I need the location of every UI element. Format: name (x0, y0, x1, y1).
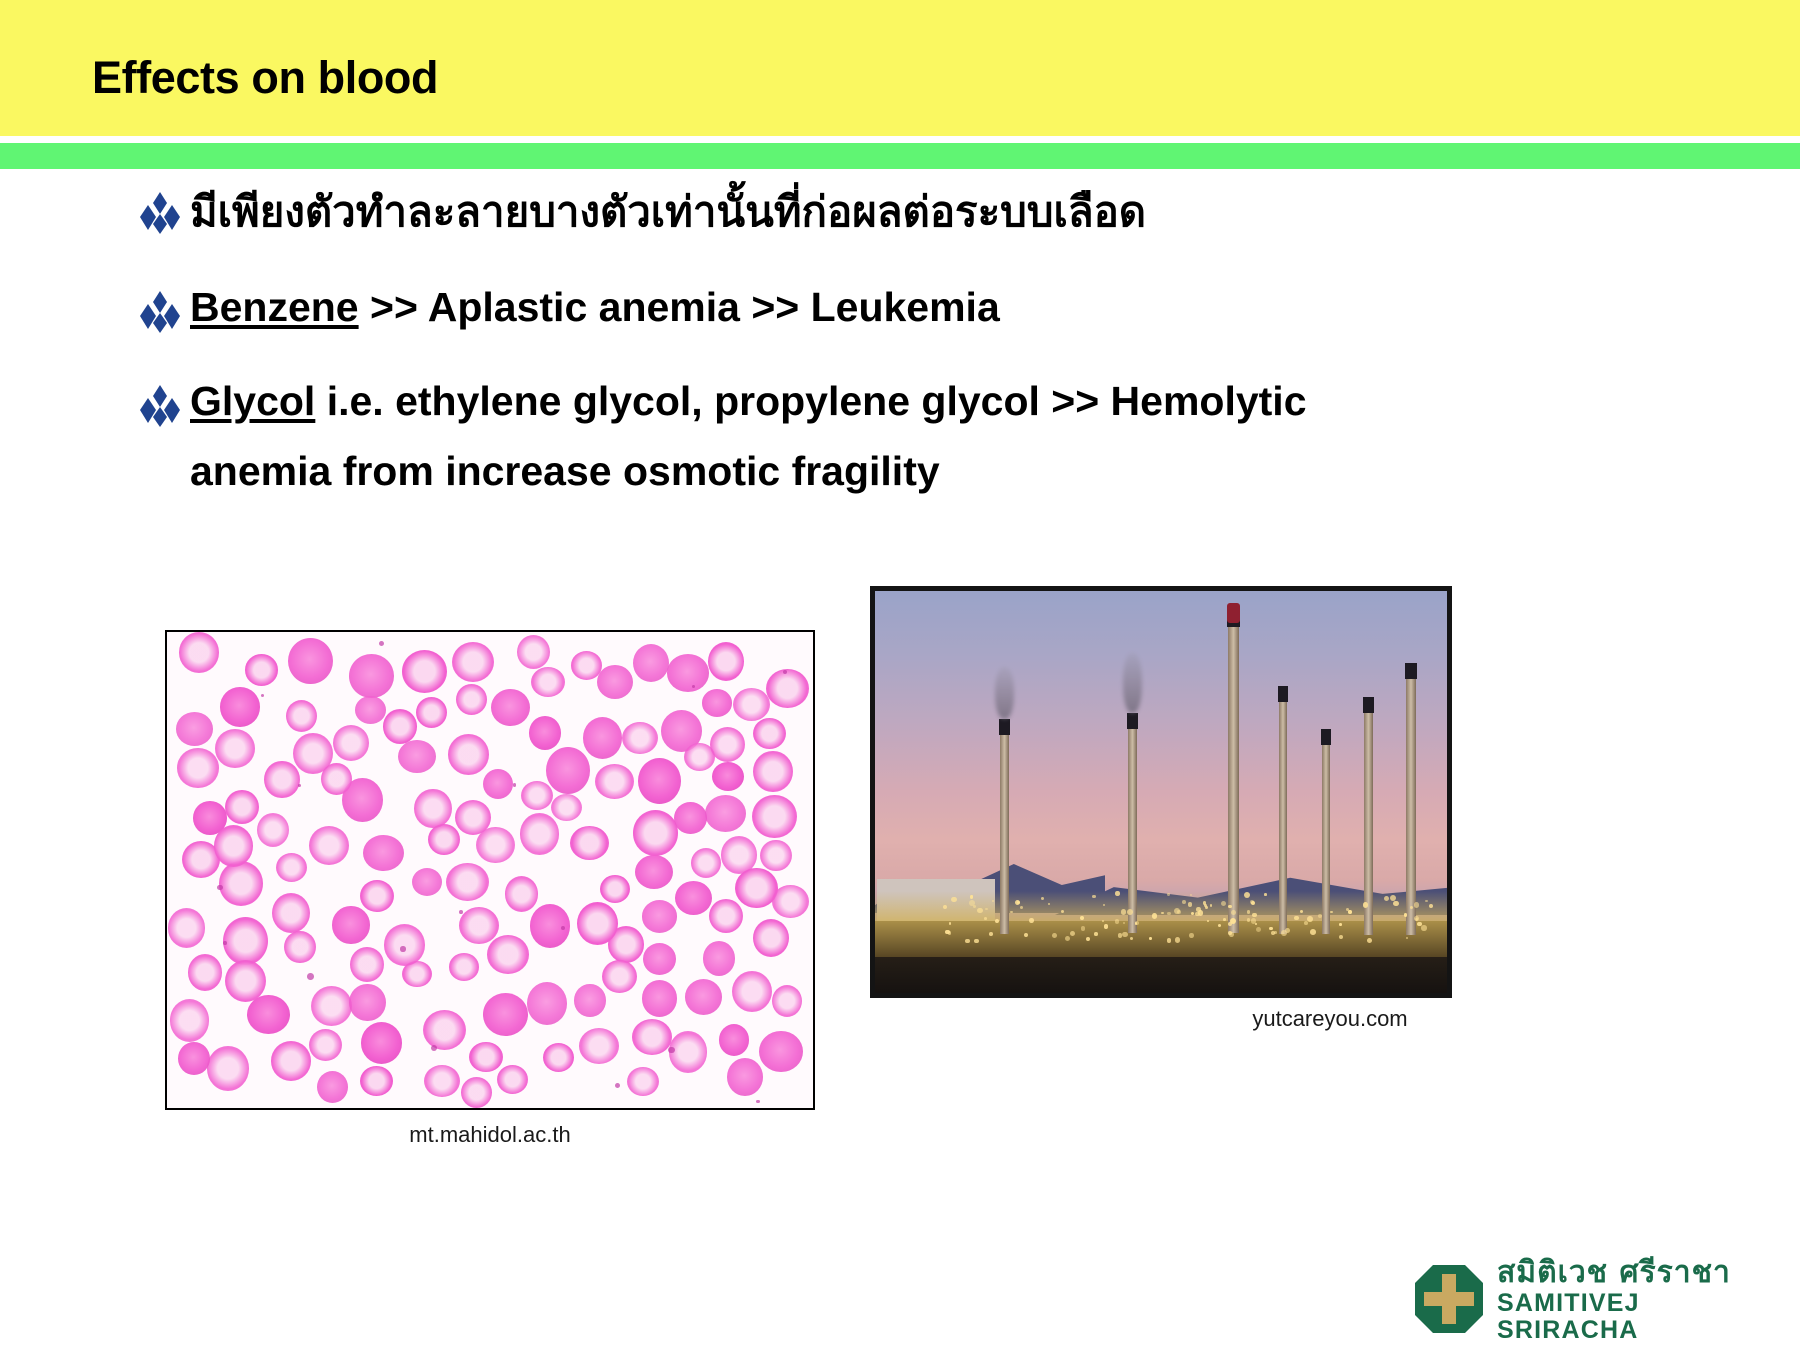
red-blood-cell (176, 712, 213, 746)
smoke-plume (1123, 653, 1142, 713)
title-divider-green (0, 143, 1800, 169)
plant-light (1414, 902, 1419, 907)
plant-light (1115, 919, 1119, 923)
plant-light (1417, 922, 1422, 927)
plant-light (1210, 904, 1213, 907)
red-blood-cell (760, 840, 792, 871)
red-blood-cell (363, 835, 404, 871)
platelet-speck (223, 941, 227, 945)
plant-light (1177, 910, 1181, 914)
blood-smear-figure: mt.mahidol.ac.th (165, 630, 815, 1110)
glycol-rest: i.e. ethylene glycol, propylene glycol >… (315, 378, 1306, 424)
red-blood-cell (583, 717, 623, 759)
plant-light (1281, 930, 1287, 936)
red-blood-cell (732, 971, 772, 1012)
platelet-speck (561, 926, 565, 930)
red-blood-cell (223, 917, 268, 965)
platelet-speck (783, 670, 787, 674)
plant-light (1310, 929, 1316, 935)
red-blood-cell (276, 853, 307, 882)
red-blood-cell (355, 696, 387, 724)
red-blood-cell (597, 665, 633, 699)
plant-light (1330, 911, 1332, 913)
red-blood-cell (521, 781, 553, 810)
red-blood-cell (188, 954, 222, 991)
plant-light (989, 932, 993, 936)
red-blood-cell (753, 718, 787, 750)
plant-light (1115, 891, 1119, 895)
smokestack (1128, 713, 1137, 933)
blood-smear-caption: mt.mahidol.ac.th (165, 1122, 815, 1148)
red-blood-cell (220, 687, 259, 726)
plant-light (969, 900, 975, 906)
plant-light (1127, 909, 1133, 915)
plant-light (1247, 910, 1250, 913)
red-blood-cell (674, 802, 707, 834)
smokestack-cap (1127, 713, 1138, 729)
plant-light (949, 922, 951, 924)
refinery-caption: yutcareyou.com (1200, 1006, 1460, 1032)
red-blood-cell (487, 935, 530, 974)
red-blood-cell (284, 931, 316, 964)
smoke-plume (995, 667, 1014, 719)
platelet-speck (400, 946, 405, 951)
red-blood-cell (214, 825, 253, 867)
plant-light (1122, 932, 1128, 938)
red-blood-cell (675, 881, 712, 915)
red-blood-cell (416, 697, 447, 728)
red-blood-cell (349, 984, 385, 1021)
red-blood-cell (759, 1031, 803, 1073)
red-blood-cell (332, 906, 369, 943)
red-blood-cell (766, 669, 809, 709)
plant-light (1130, 937, 1133, 940)
plant-light (1294, 916, 1298, 920)
red-blood-cell (168, 908, 205, 947)
plant-light (1425, 900, 1427, 902)
platelet-speck (298, 784, 301, 787)
red-blood-cell (642, 980, 677, 1016)
red-blood-cell (635, 855, 673, 889)
plant-light (951, 897, 957, 903)
plant-light (1086, 937, 1090, 941)
smokestack (1364, 697, 1373, 935)
plant-light (1367, 938, 1372, 943)
plant-light (1161, 912, 1163, 914)
list-item: มีเพียงตัวทำละลายบางตัวเท่านั้นที่ก่อผลต… (140, 188, 1740, 235)
list-item-label: มีเพียงตัวทำละลายบางตัวเท่านั้นที่ก่อผลต… (190, 188, 1740, 235)
plant-light (1307, 916, 1313, 922)
red-blood-cell (595, 764, 634, 799)
glycol-keyword: Glycol (190, 378, 315, 424)
plant-light (1228, 905, 1231, 908)
red-blood-cell (423, 1010, 466, 1050)
red-blood-cell (752, 795, 797, 838)
benzene-rest: >> Aplastic anemia >> Leukemia (359, 284, 1000, 330)
list-item-continuation: anemia from increase osmotic fragility (190, 451, 1740, 492)
plant-light (1348, 910, 1352, 914)
red-blood-cell (703, 941, 736, 976)
red-blood-cell (638, 758, 681, 804)
red-blood-cell (177, 748, 218, 787)
red-blood-cell (247, 995, 290, 1034)
red-blood-cell (602, 960, 637, 993)
smokestack-cap (1363, 697, 1374, 713)
plant-light (965, 939, 969, 943)
red-blood-cell (531, 667, 565, 697)
platelet-speck (615, 1083, 620, 1088)
plant-light (1191, 912, 1194, 915)
red-blood-cell (633, 810, 678, 855)
plant-light (1020, 906, 1023, 909)
plant-light (1269, 927, 1273, 931)
red-blood-cell (551, 794, 582, 821)
red-blood-cell (402, 650, 447, 693)
red-blood-cell (520, 813, 560, 855)
plant-light (985, 908, 987, 910)
smokestack (1406, 663, 1416, 935)
red-blood-cell (424, 1065, 460, 1097)
refinery-image (870, 586, 1452, 998)
red-blood-cell (543, 1043, 575, 1072)
red-blood-cell (476, 827, 515, 863)
red-blood-cell (207, 1046, 250, 1091)
red-blood-cell (643, 943, 677, 975)
plant-light (1167, 893, 1169, 895)
platelet-speck (668, 1047, 675, 1054)
plant-light (1218, 924, 1221, 927)
red-blood-cell (170, 999, 210, 1042)
list-item: Glycol i.e. ethylene glycol, propylene g… (140, 381, 1740, 423)
logo-thai-name: สมิติเวช ศรีราชา (1497, 1257, 1787, 1289)
red-blood-cell (456, 684, 488, 715)
list-item: Benzene >> Aplastic anemia >> Leukemia (140, 287, 1740, 329)
plant-light (1264, 893, 1267, 896)
title-divider-white (0, 136, 1800, 143)
red-blood-cell (497, 1065, 528, 1094)
smokestack (1000, 719, 1009, 934)
red-blood-cell (178, 1042, 210, 1075)
plant-light (1102, 920, 1104, 922)
plant-light (1339, 923, 1342, 926)
plant-light (1175, 937, 1181, 943)
red-blood-cell (772, 985, 803, 1018)
list-item-label: Glycol i.e. ethylene glycol, propylene g… (190, 381, 1740, 422)
plant-light (1221, 901, 1226, 906)
red-blood-cell (321, 763, 352, 795)
platelet-speck (217, 885, 222, 890)
plant-light (1149, 937, 1152, 940)
plant-light (1421, 925, 1426, 930)
bullet-list: มีเพียงตัวทำละลายบางตัวเท่านั้นที่ก่อผลต… (140, 188, 1740, 492)
plant-light (1104, 924, 1109, 929)
red-blood-cell (702, 689, 733, 717)
red-blood-cell (360, 1066, 393, 1096)
red-blood-cell (622, 722, 658, 754)
red-blood-cell (712, 762, 744, 791)
plant-light (1182, 900, 1186, 904)
red-blood-cell (627, 1067, 659, 1096)
list-item-label: Benzene >> Aplastic anemia >> Leukemia (190, 287, 1740, 328)
smokestack (1279, 686, 1287, 934)
red-blood-cell (691, 848, 721, 878)
red-blood-cell (452, 642, 494, 682)
red-blood-cell (288, 638, 333, 684)
plant-light (974, 939, 978, 943)
red-blood-cell (753, 919, 789, 957)
red-blood-cell (461, 1077, 492, 1108)
red-blood-cell (311, 986, 353, 1027)
diamond-cluster-icon (140, 291, 190, 333)
samitivej-sriracha-logo: สมิติเวช ศรีราชา SAMITIVEJ SRIRACHA (1415, 1262, 1787, 1340)
plant-light (1152, 913, 1157, 918)
page-title: Effects on blood (92, 52, 438, 104)
red-blood-cell (632, 1019, 672, 1055)
red-blood-cell (491, 689, 530, 726)
red-blood-cell (215, 729, 254, 768)
platelet-speck (307, 973, 314, 980)
plant-light (1135, 921, 1139, 925)
red-blood-cell (179, 632, 219, 672)
red-blood-cell (317, 1071, 348, 1103)
red-blood-cell (412, 868, 442, 896)
red-blood-cell (286, 700, 317, 732)
blood-smear-image (165, 630, 815, 1110)
red-blood-cell (428, 824, 460, 855)
plant-light (1041, 897, 1044, 900)
red-blood-cell (245, 654, 278, 685)
logo-latin-name: SAMITIVEJ SRIRACHA (1497, 1290, 1787, 1345)
red-blood-cell (483, 769, 513, 799)
red-blood-cell (517, 635, 550, 669)
red-blood-cell (414, 789, 451, 829)
red-blood-cell (733, 688, 770, 721)
plant-light (1363, 902, 1368, 907)
benzene-keyword: Benzene (190, 284, 359, 330)
red-blood-cell (483, 993, 529, 1036)
smokestack (1322, 729, 1330, 934)
platelet-speck (261, 694, 264, 697)
red-blood-cell (721, 836, 757, 873)
red-blood-cell (446, 863, 489, 901)
red-blood-cell (360, 880, 394, 913)
red-blood-cell (361, 1022, 402, 1064)
platelet-speck (513, 783, 516, 786)
plant-light (1017, 901, 1020, 904)
red-blood-cell (579, 1028, 619, 1064)
plant-light (1339, 935, 1343, 939)
flare-tip (1227, 603, 1240, 623)
red-blood-cell (349, 654, 394, 698)
red-blood-cell (705, 795, 746, 832)
red-blood-cell (225, 960, 266, 1002)
red-blood-cell (570, 826, 609, 861)
red-blood-cell (309, 826, 349, 865)
red-blood-cell (685, 979, 723, 1015)
smokestack-cap (1405, 663, 1417, 679)
plant-light (1228, 931, 1232, 935)
platelet-speck (379, 641, 384, 646)
plant-light (1195, 912, 1200, 917)
red-blood-cell (529, 716, 561, 749)
red-blood-cell (333, 725, 370, 761)
red-blood-cell (309, 1029, 342, 1061)
smokestack-cap (1321, 729, 1331, 745)
plant-lights-glow (875, 891, 1447, 957)
red-blood-cell (772, 885, 809, 918)
red-blood-cell (264, 761, 299, 799)
red-blood-cell (708, 642, 744, 681)
red-blood-cell (272, 893, 310, 933)
medical-cross-icon (1415, 1265, 1483, 1338)
red-blood-cell (527, 982, 567, 1024)
red-blood-cell (257, 813, 289, 847)
plant-light (1010, 911, 1012, 913)
red-blood-cell (684, 743, 716, 771)
red-blood-cell (225, 790, 259, 824)
red-blood-cell (384, 924, 425, 965)
red-blood-cell (505, 876, 538, 912)
red-blood-cell (546, 747, 591, 794)
smokestack-cap (999, 719, 1010, 735)
smokestack-cap (1278, 686, 1288, 702)
plant-light (1103, 904, 1105, 906)
platelet-speck (756, 1100, 759, 1103)
red-blood-cell (574, 984, 605, 1016)
red-blood-cell (448, 734, 489, 775)
red-blood-cell (383, 709, 417, 744)
red-blood-cell (459, 907, 499, 944)
plant-light (1274, 931, 1277, 934)
plant-light (1406, 937, 1408, 939)
plant-light (1304, 921, 1308, 925)
red-blood-cell (642, 900, 677, 932)
refinery-figure: yutcareyou.com (870, 586, 1452, 998)
platelet-speck (431, 1045, 437, 1051)
red-blood-cell (727, 1058, 764, 1096)
plant-light (1167, 938, 1172, 943)
red-blood-cell (710, 727, 745, 762)
red-blood-cell (469, 1042, 503, 1072)
diamond-cluster-icon (140, 192, 190, 234)
red-blood-cell (398, 740, 436, 773)
red-blood-cell (271, 1041, 311, 1080)
plant-light (1094, 932, 1098, 936)
plant-light (1029, 918, 1034, 923)
red-blood-cell (600, 875, 631, 903)
plant-light (1167, 912, 1170, 915)
red-blood-cell (667, 654, 710, 692)
red-blood-cell (350, 947, 383, 982)
plant-light (1189, 933, 1194, 938)
smokestack (1228, 611, 1239, 933)
red-blood-cell (753, 751, 792, 792)
red-blood-cell (633, 644, 669, 682)
diamond-cluster-icon (140, 385, 190, 427)
plant-light (1228, 922, 1232, 926)
red-blood-cell (219, 861, 263, 905)
red-blood-cell (719, 1024, 749, 1056)
red-blood-cell (449, 953, 479, 981)
red-blood-cell (577, 902, 618, 945)
red-blood-cell (669, 1031, 708, 1072)
plant-light (977, 908, 983, 914)
red-blood-cell (709, 899, 743, 933)
logo-text-block: สมิติเวช ศรีราชา SAMITIVEJ SRIRACHA (1497, 1257, 1787, 1345)
